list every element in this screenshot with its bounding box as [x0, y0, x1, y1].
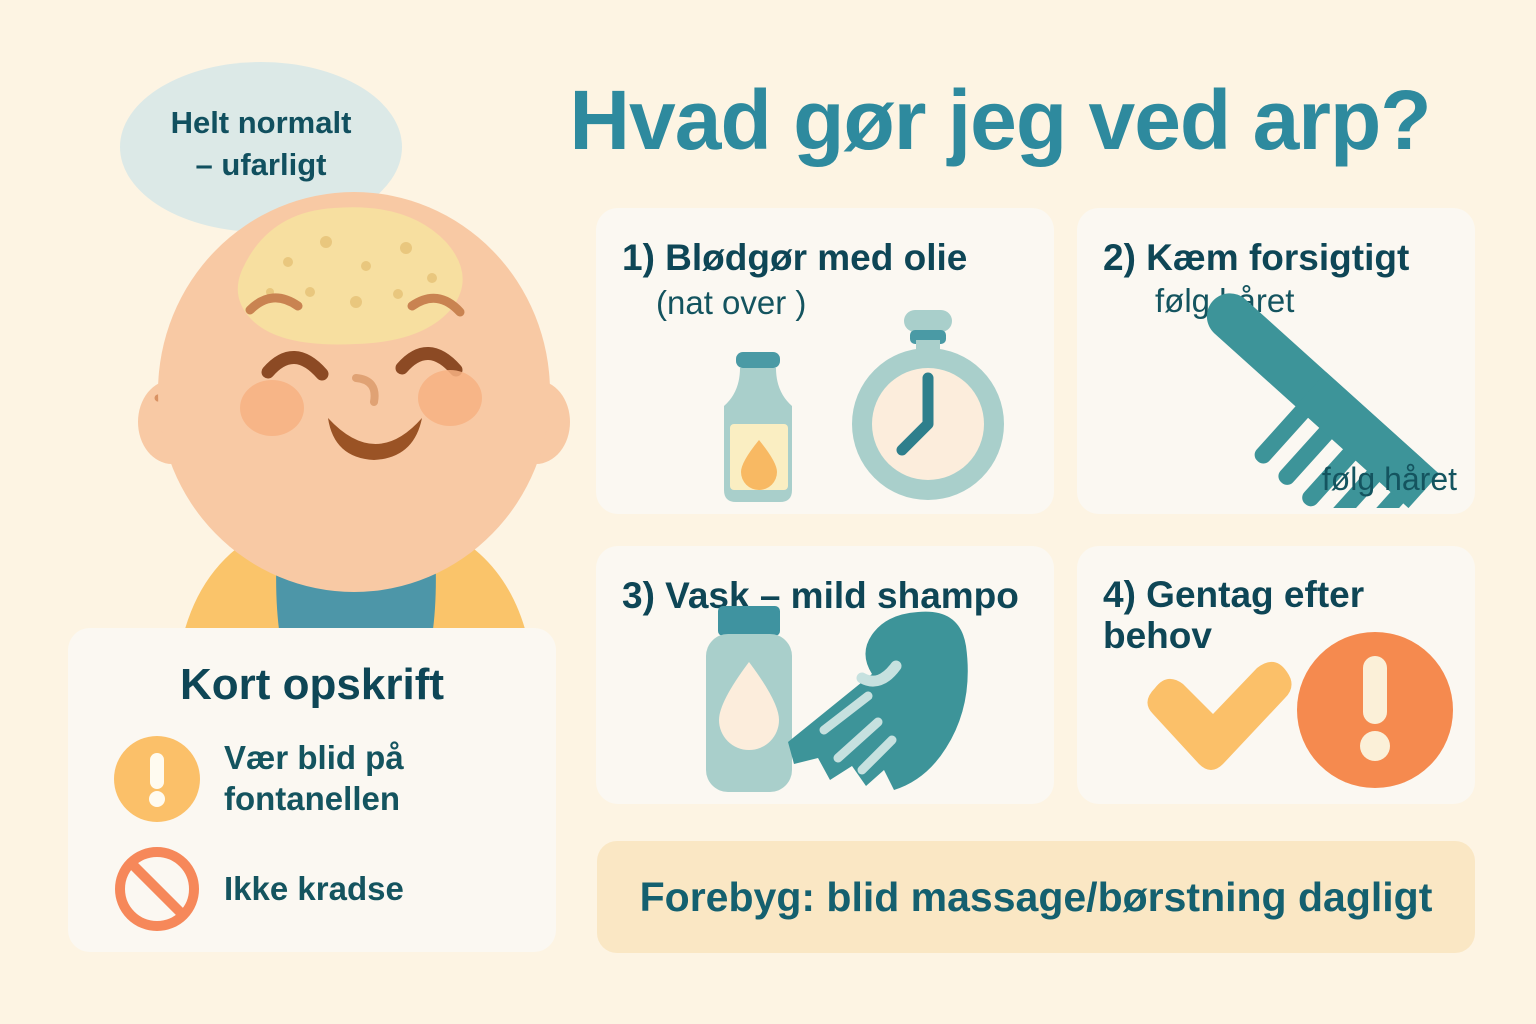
recipe-warning-line-2: fontanellen	[224, 780, 400, 817]
step-4-artwork	[1137, 628, 1467, 798]
step-1-title: 1) Blødgør med olie	[622, 236, 1040, 280]
oil-bottle-icon	[724, 352, 792, 502]
shampoo-bottle-icon	[706, 606, 792, 792]
step-2-note: følg håret	[1322, 461, 1457, 498]
short-recipe-panel: Kort opskrift Vær blid på fontanellen	[68, 628, 556, 952]
step-2-title: 2) Kæm forsigtigt	[1103, 236, 1461, 280]
page-title: Hvad gør jeg ved arp?	[505, 72, 1495, 169]
recipe-item-prohibition-text: Ikke kradse	[224, 869, 404, 910]
warning-exclamation-icon	[114, 736, 200, 822]
clock-icon	[852, 310, 1004, 500]
recipe-item-prohibition: Ikke kradse	[114, 846, 404, 932]
step-3-artwork	[682, 604, 1012, 800]
baby-cheek-left	[240, 380, 304, 436]
prevention-banner-text: Forebyg: blid massage/børstning dagligt	[640, 874, 1433, 921]
prevention-banner: Forebyg: blid massage/børstning dagligt	[597, 841, 1475, 953]
step-card-3: 3) Vask – mild shampo	[596, 546, 1054, 804]
baby-illustration	[120, 170, 590, 690]
speech-bubble-line-1: Helt normalt	[171, 102, 352, 144]
exclamation-circle-icon	[1297, 632, 1453, 788]
recipe-panel-title: Kort opskrift	[68, 660, 556, 710]
baby-cheek-right	[418, 370, 482, 426]
recipe-warning-line-1: Vær blid på	[224, 739, 404, 776]
recipe-item-warning-text: Vær blid på fontanellen	[224, 738, 404, 820]
step-card-2: 2) Kæm forsigtigt følg håret følg håret	[1077, 208, 1475, 514]
step-card-1: 1) Blødgør med olie (nat over )	[596, 208, 1054, 514]
prohibition-no-scratch-icon	[114, 846, 200, 932]
checkmark-icon	[1147, 662, 1291, 770]
step-card-4: 4) Gentag efter behov	[1077, 546, 1475, 804]
step-1-artwork	[692, 306, 1032, 506]
infographic-canvas: Helt normalt – ufarligt Hvad gør jeg ved…	[0, 0, 1536, 1024]
recipe-item-warning: Vær blid på fontanellen	[114, 736, 404, 822]
hand-icon	[788, 612, 968, 790]
